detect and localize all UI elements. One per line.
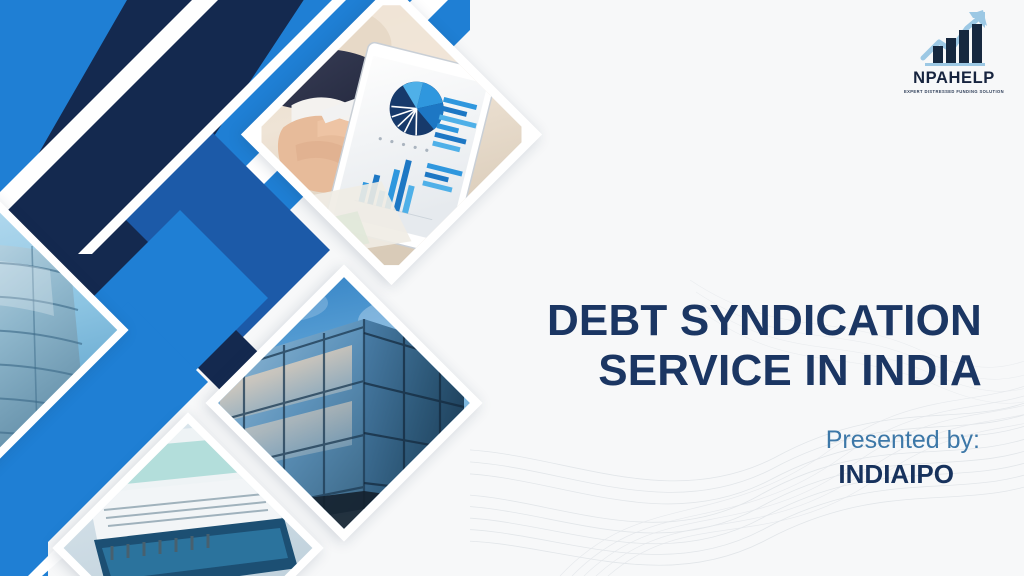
presenter-name: INDIAIPO	[420, 457, 954, 492]
bar-chart-growth-arrow-icon	[917, 6, 991, 68]
presentation-slide: DEBT SYNDICATION SERVICE IN INDIA Presen…	[0, 0, 1024, 576]
logo-wordmark: NPAHELP	[898, 69, 1010, 87]
presented-by-block: Presented by: INDIAIPO	[420, 424, 980, 492]
slide-title-line-2: SERVICE IN INDIA	[382, 346, 982, 396]
npahelp-logo[interactable]: NPAHELP EXPERT DISTRESSED FUNDING SOLUTI…	[898, 6, 1010, 95]
slide-title-line-1: DEBT SYNDICATION	[382, 296, 982, 346]
logo-tagline: EXPERT DISTRESSED FUNDING SOLUTION	[898, 90, 1010, 95]
presented-by-label: Presented by:	[420, 424, 980, 457]
slide-title-block: DEBT SYNDICATION SERVICE IN INDIA	[382, 296, 982, 396]
